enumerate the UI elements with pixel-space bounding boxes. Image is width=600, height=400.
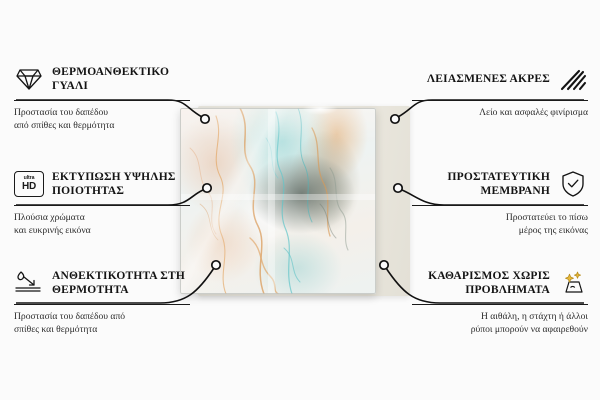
feature-heat-resistant-glass: ΘΕΡΜΟΑΝΘΕΚΤΙΚΟ ΓΥΑΛΙ Προστασία του δαπέδ…	[14, 62, 190, 132]
feature-desc-line2: σπίθες και θερμότητα	[14, 323, 190, 336]
feature-desc-line1: Προστατεύει το πίσω	[412, 211, 588, 224]
feature-title: ΛΕΙΑΣΜΕΝΕΣ ΑΚΡΕΣ	[427, 72, 550, 86]
feature-title: ΘΕΡΜΟΑΝΘΕΚΤΙΚΟ ΓΥΑΛΙ	[52, 65, 190, 94]
easy-clean-sparkle-icon	[558, 268, 588, 298]
feature-protective-membrane: ΠΡΟΣΤΑΤΕΥΤΙΚΗ ΜΕΜΒΡΑΝΗ Προστατεύει το πί…	[412, 167, 588, 237]
feature-description: Προστασία του δαπέδου από σπίθες και θερ…	[14, 106, 190, 132]
feature-header: ΑΝΘΕΚΤΙΚΟΤΗΤΑ ΣΤΗ ΘΕΡΜΟΤΗΤΑ	[14, 266, 190, 300]
feature-smooth-edges: ΛΕΙΑΣΜΕΝΕΣ ΑΚΡΕΣ Λείο και ασφαλές φινίρι…	[412, 62, 588, 119]
feature-divider	[14, 100, 190, 101]
feature-divider	[412, 304, 588, 305]
feature-header: ultra HD ΕΚΤΥΠΩΣΗ ΥΨΗΛΗΣ ΠΟΙΟΤΗΤΑΣ	[14, 167, 190, 201]
feature-description: Λείο και ασφαλές φινίρισμα	[412, 106, 588, 119]
product-image	[180, 108, 400, 294]
feature-description: Η αιθάλη, η στάχτη ή άλλοι ρύποι μπορούν…	[412, 310, 588, 336]
feature-heat-durability: ΑΝΘΕΚΤΙΚΟΤΗΤΑ ΣΤΗ ΘΕΡΜΟΤΗΤΑ Προστασία το…	[14, 266, 190, 336]
feature-desc-line1: Προστασία του δαπέδου από	[14, 310, 190, 323]
feature-desc-line1: Πλούσια χρώματα	[14, 211, 190, 224]
feature-description: Προστατεύει το πίσω μέρος της εικόνας	[412, 211, 588, 237]
feature-desc-line1: Προστασία του δαπέδου	[14, 106, 190, 119]
feature-desc-line2: ρύποι μπορούν να αφαιρεθούν	[412, 323, 588, 336]
feature-divider	[412, 100, 588, 101]
feature-title: ΠΡΟΣΤΑΤΕΥΤΙΚΗ ΜΕΜΒΡΑΝΗ	[412, 170, 550, 199]
shield-check-icon	[558, 169, 588, 199]
feature-divider	[412, 205, 588, 206]
feature-divider	[14, 304, 190, 305]
ultra-hd-badge-icon: ultra HD	[14, 169, 44, 199]
feature-header: ΛΕΙΑΣΜΕΝΕΣ ΑΚΡΕΣ	[412, 62, 588, 96]
feature-desc-line2: μέρος της εικόνας	[412, 224, 588, 237]
heat-deflection-icon	[14, 268, 44, 298]
feature-title: ΚΑΘΑΡΙΣΜΟΣ ΧΩΡΙΣ ΠΡΟΒΛΗΜΑΤΑ	[412, 269, 550, 298]
feature-high-quality-print: ultra HD ΕΚΤΥΠΩΣΗ ΥΨΗΛΗΣ ΠΟΙΟΤΗΤΑΣ Πλούσ…	[14, 167, 190, 237]
feature-header: ΠΡΟΣΤΑΤΕΥΤΙΚΗ ΜΕΜΒΡΑΝΗ	[412, 167, 588, 201]
feature-easy-cleaning: ΚΑΘΑΡΙΣΜΟΣ ΧΩΡΙΣ ΠΡΟΒΛΗΜΑΤΑ Η αιθάλη, η …	[412, 266, 588, 336]
feature-divider	[14, 205, 190, 206]
feature-title: ΕΚΤΥΠΩΣΗ ΥΨΗΛΗΣ ΠΟΙΟΤΗΤΑΣ	[52, 170, 190, 199]
feature-desc-line2: και ευκρινής εικόνα	[14, 224, 190, 237]
feature-description: Προστασία του δαπέδου από σπίθες και θερ…	[14, 310, 190, 336]
feature-title: ΑΝΘΕΚΤΙΚΟΤΗΤΑ ΣΤΗ ΘΕΡΜΟΤΗΤΑ	[52, 269, 190, 298]
glass-panel	[180, 108, 376, 294]
feature-desc-line2: από σπίθες και θερμότητα	[14, 119, 190, 132]
feature-description: Πλούσια χρώματα και ευκρινής εικόνα	[14, 211, 190, 237]
infographic-canvas: ΘΕΡΜΟΑΝΘΕΚΤΙΚΟ ΓΥΑΛΙ Προστασία του δαπέδ…	[0, 0, 600, 400]
diamond-icon	[14, 64, 44, 94]
feature-desc-line1: Λείο και ασφαλές φινίρισμα	[412, 106, 588, 119]
feature-desc-line1: Η αιθάλη, η στάχτη ή άλλοι	[412, 310, 588, 323]
beveled-edge-icon	[558, 64, 588, 94]
ink-vein-detail	[180, 108, 376, 294]
hd-label: HD	[22, 182, 36, 192]
feature-header: ΚΑΘΑΡΙΣΜΟΣ ΧΩΡΙΣ ΠΡΟΒΛΗΜΑΤΑ	[412, 266, 588, 300]
feature-header: ΘΕΡΜΟΑΝΘΕΚΤΙΚΟ ΓΥΑΛΙ	[14, 62, 190, 96]
